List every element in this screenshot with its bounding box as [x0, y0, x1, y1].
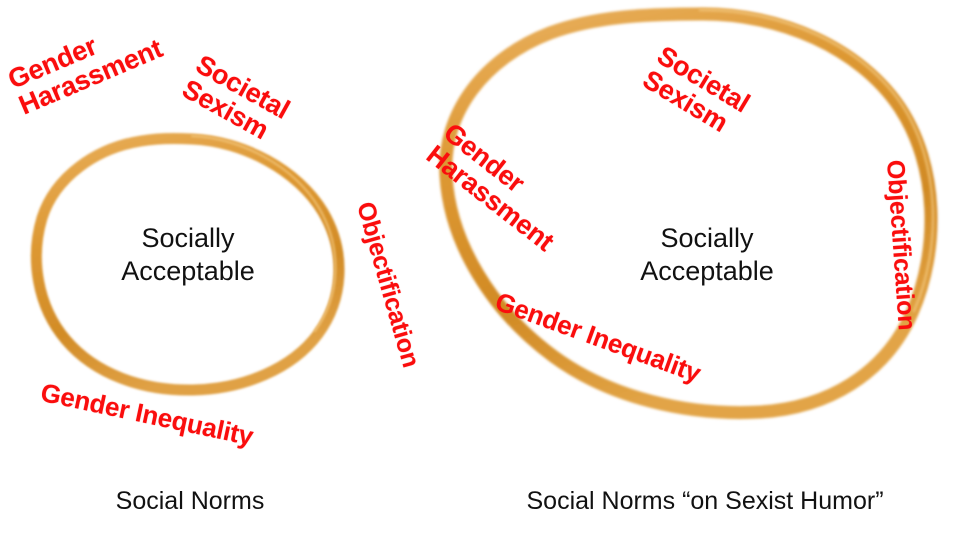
caption-social-norms: Social Norms [45, 487, 335, 516]
diagram-social-norms: Gender Harassment Societal Sexism Object… [0, 0, 430, 555]
center-label-socially-acceptable: Socially Acceptable [88, 222, 288, 288]
caption-social-norms-on-sexist-humor: Social Norms “on Sexist Humor” [470, 487, 940, 516]
center-label-socially-acceptable: Socially Acceptable [597, 222, 817, 288]
figure-canvas: Gender Harassment Societal Sexism Object… [0, 0, 980, 555]
diagram-social-norms-on-sexist-humor: Gender Harassment Societal Sexism Object… [430, 0, 980, 555]
